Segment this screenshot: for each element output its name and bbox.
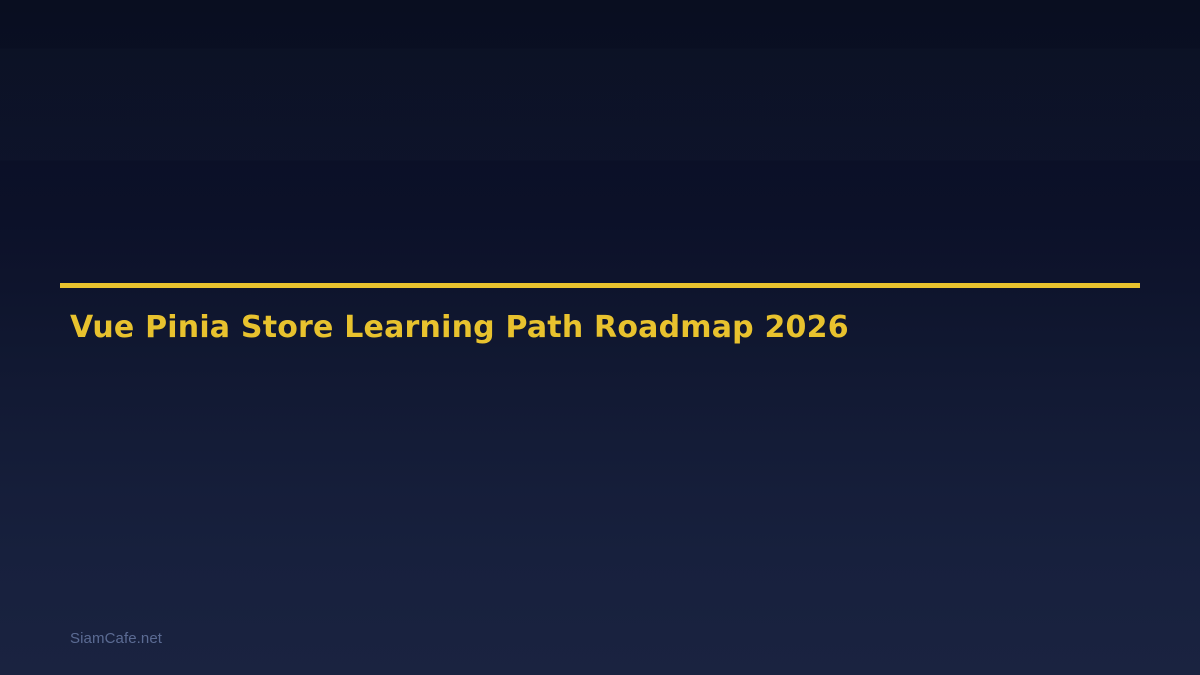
page-title: Vue Pinia Store Learning Path Roadmap 20…	[70, 308, 849, 348]
title-slide: Vue Pinia Store Learning Path Roadmap 20…	[0, 0, 1200, 675]
title-block: Vue Pinia Store Learning Path Roadmap 20…	[60, 283, 1140, 288]
accent-bar	[60, 283, 1140, 288]
footer-attribution: SiamCafe.net	[70, 629, 162, 649]
